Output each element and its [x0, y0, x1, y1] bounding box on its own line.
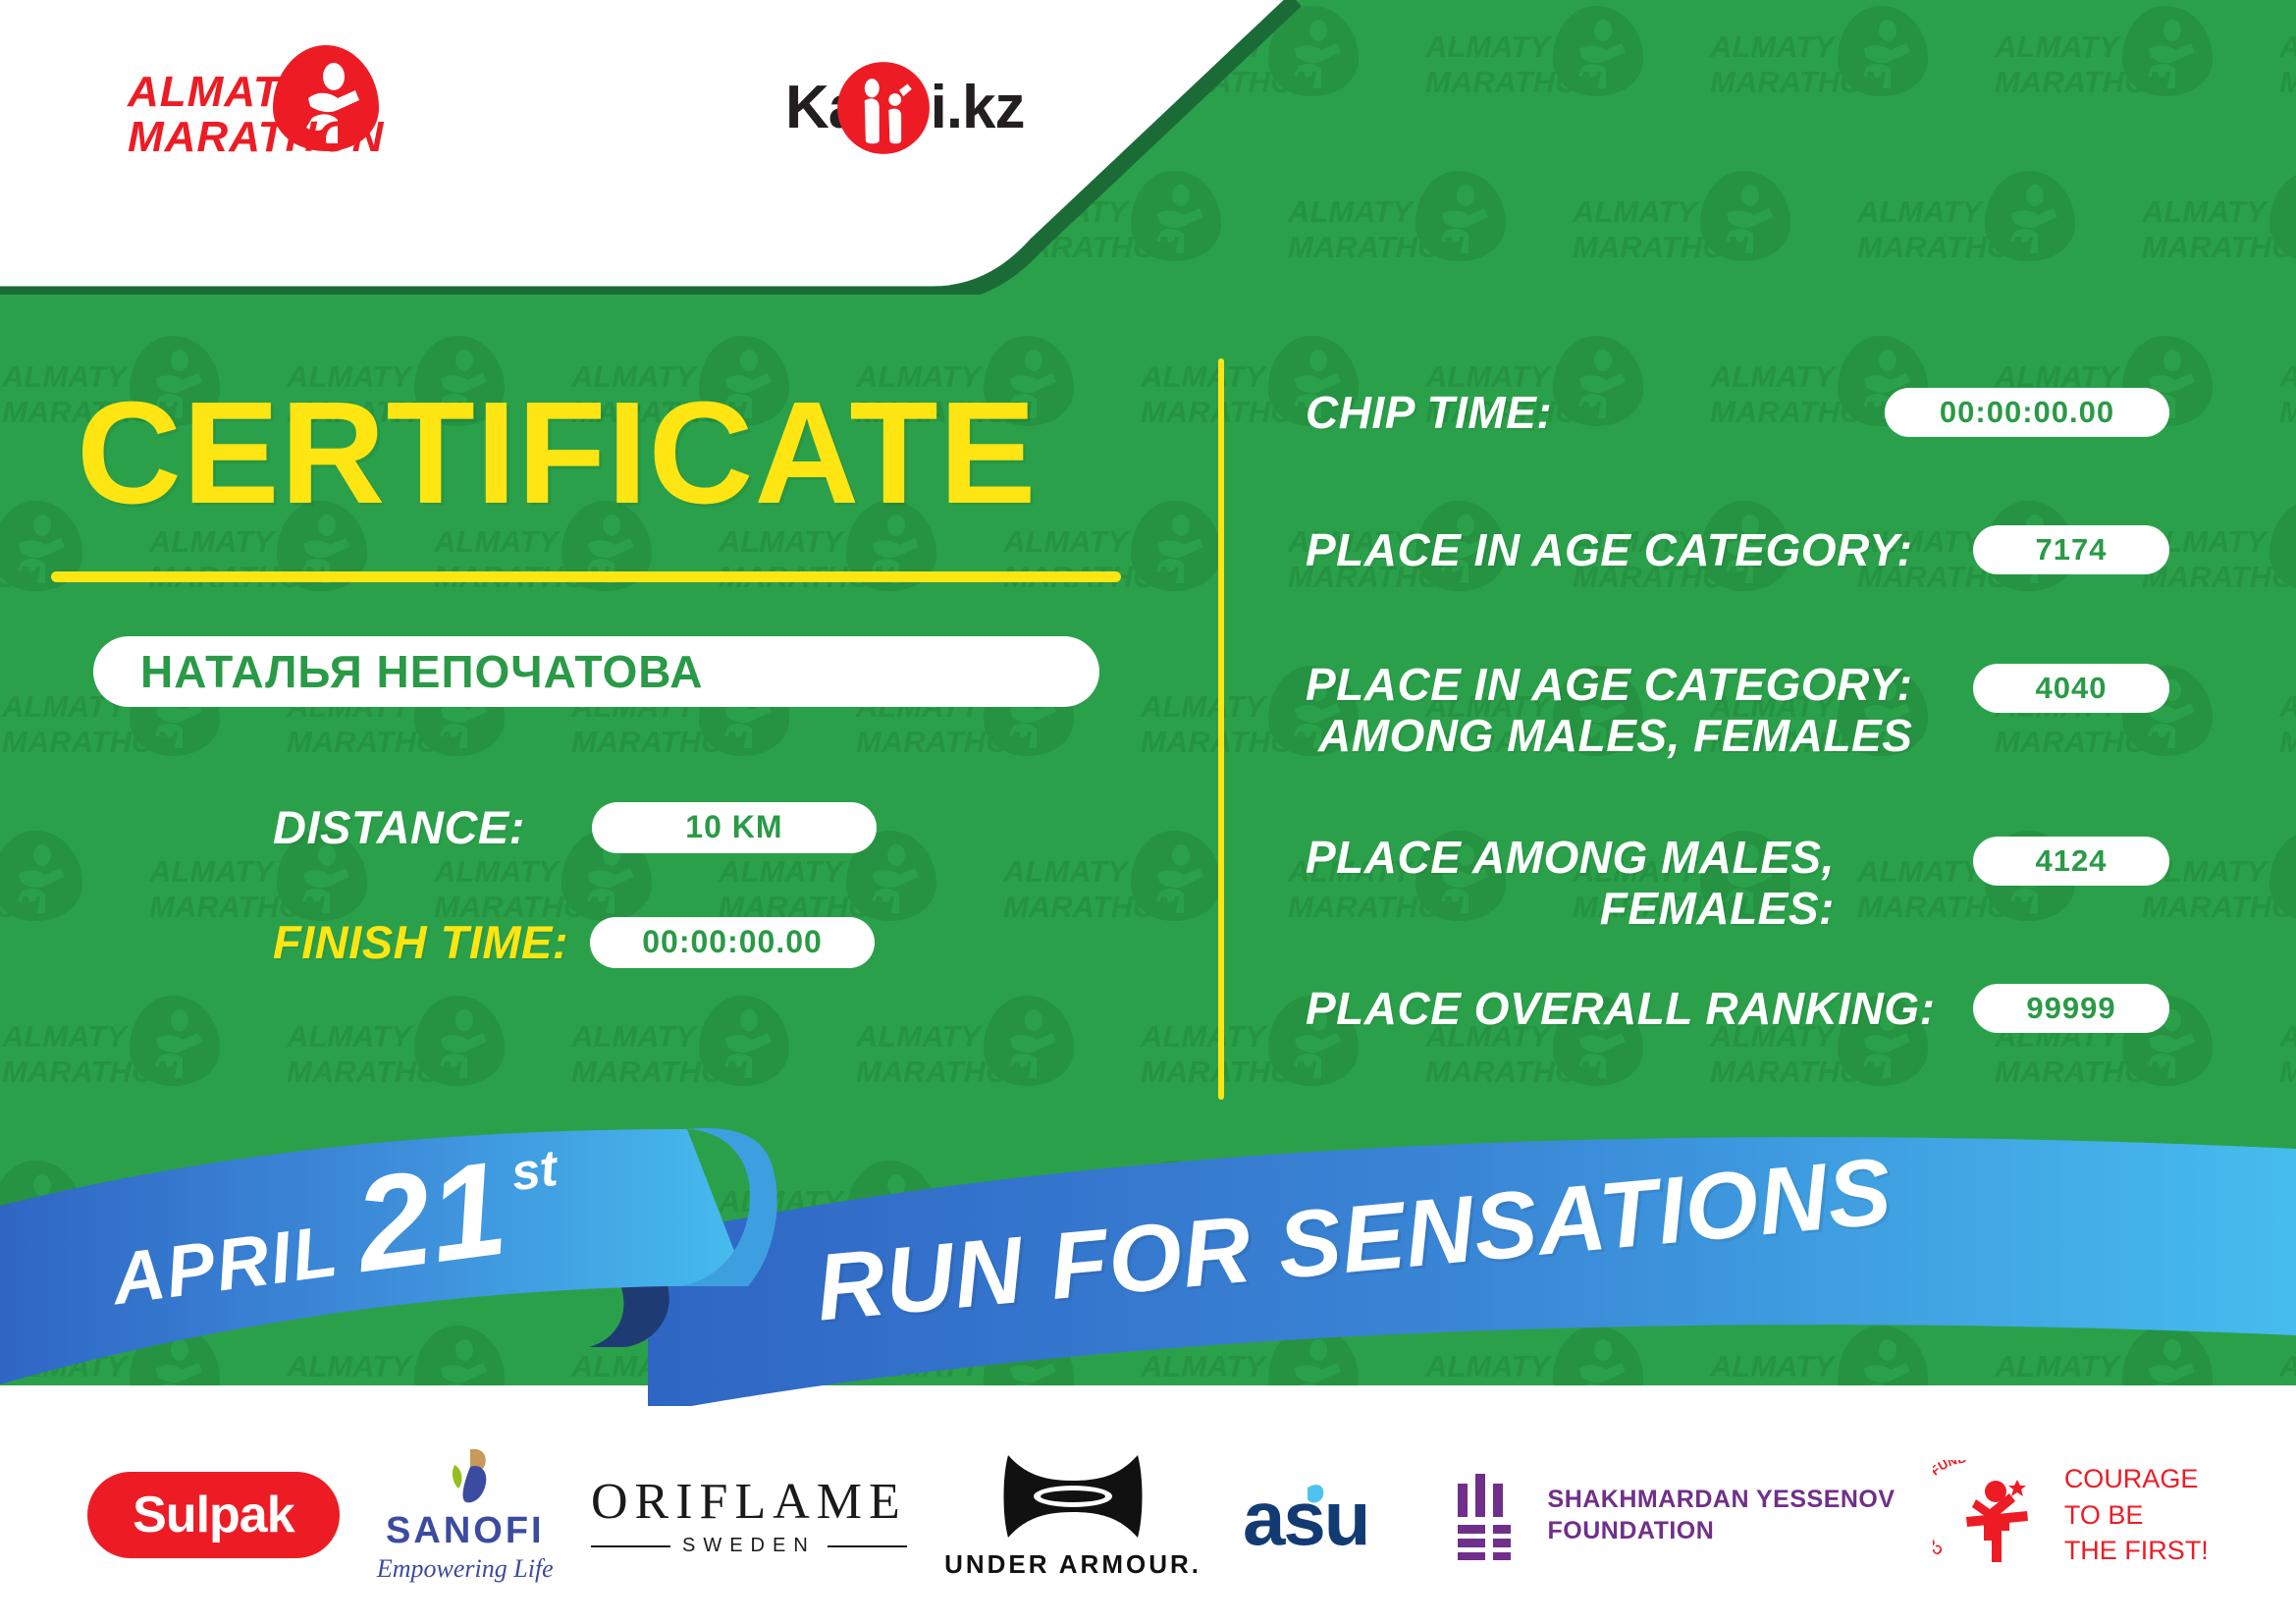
title-underline — [51, 571, 1121, 582]
athlete-name-field: НАТАЛЬЯ НЕПОЧАТОВА — [93, 636, 1099, 707]
stat-label: PLACE IN AGE CATEGORY: — [1306, 525, 1912, 576]
athlete-name-value: НАТАЛЬЯ НЕПОЧАТОВА — [140, 645, 703, 698]
stat-value: 4040 — [1973, 664, 2169, 713]
sponsor-asu: asu — [1239, 1468, 1415, 1562]
stat-value: 7174 — [1973, 525, 2169, 574]
event-ribbon: APRIL 21 st RUN FOR SENSATIONS — [0, 1090, 2296, 1414]
event-day: 21 — [348, 1141, 513, 1293]
svg-text:MARATHON: MARATHON — [1995, 1055, 2170, 1089]
svg-text:ALMATY: ALMATY — [286, 1019, 414, 1054]
svg-text:ALMATY: ALMATY — [1, 1019, 130, 1054]
watermark-logo-icon: ALMATYMARATHON — [1855, 165, 2101, 287]
sponsor-under-armour: UNDER ARMOUR. — [944, 1451, 1201, 1580]
sponsor-courage-to-be-the-first: CORPORATE FUND COURAGE TO BE THE FIRST! — [1933, 1460, 2209, 1570]
svg-text:MARATHON: MARATHON — [1425, 1055, 1601, 1089]
sponsor-sulpak: Sulpak — [87, 1472, 340, 1558]
svg-text:MARATHON: MARATHON — [2142, 230, 2296, 264]
svg-text:ALMATY: ALMATY — [127, 68, 313, 116]
sponsor-bar: Sulpak SANOFI Empowering Life ORIFLAME S… — [0, 1406, 2296, 1624]
svg-text:MARATHON: MARATHON — [2279, 1055, 2296, 1089]
stat-row-place-among-males-females: PLACE AMONG MALES, FEMALES: 4124 — [1306, 833, 2169, 935]
shakhmardan-mark-icon — [1454, 1470, 1526, 1560]
sulpak-logo-label: Sulpak — [87, 1472, 340, 1558]
svg-text:CORPORATE FUND: CORPORATE FUND — [1933, 1460, 1967, 1558]
svg-text:MARATHON: MARATHON — [1710, 65, 1886, 99]
finish-time-value: 00:00:00.00 — [590, 917, 875, 968]
svg-text:MARATHON: MARATHON — [0, 560, 40, 594]
shakhmardan-line1: SHAKHMARDAN YESSENOV — [1548, 1484, 1896, 1516]
kaspi-logo: Kaspi.kz — [677, 61, 1090, 155]
kaspi-mark-icon — [677, 64, 766, 152]
svg-text:MARATHON: MARATHON — [571, 725, 747, 759]
watermark-logo-icon: ALMATYMARATHON — [2140, 165, 2296, 287]
svg-text:MARATHON: MARATHON — [2, 725, 178, 759]
svg-text:ALMATY: ALMATY — [433, 854, 561, 889]
rule-right — [828, 1545, 907, 1547]
watermark-logo-icon: ALMATYMARATHON — [1001, 825, 1247, 947]
stat-label-line1: PLACE AMONG MALES, — [1306, 833, 1835, 884]
svg-text:MARATHON: MARATHON — [856, 1055, 1032, 1089]
svg-text:MARATHON: MARATHON — [571, 1055, 747, 1089]
watermark-logo-icon: ALMATYMARATHON — [2277, 660, 2296, 782]
svg-text:MARATHON: MARATHON — [856, 725, 1032, 759]
svg-text:ALMATY: ALMATY — [1002, 854, 1131, 889]
oriflame-subtitle: SWEDEN — [591, 1535, 907, 1557]
shakhmardan-label: SHAKHMARDAN YESSENOV FOUNDATION — [1548, 1484, 1896, 1547]
svg-text:ALMATY: ALMATY — [718, 854, 846, 889]
distance-value: 10 KM — [592, 802, 877, 853]
sponsor-oriflame: ORIFLAME SWEDEN — [591, 1473, 907, 1557]
svg-text:ALMATY: ALMATY — [2278, 1019, 2296, 1054]
sponsor-sanofi: SANOFI Empowering Life — [377, 1447, 554, 1584]
svg-text:MARATHON: MARATHON — [1857, 230, 2033, 264]
svg-text:MARATHON: MARATHON — [1573, 230, 1748, 264]
stat-label-line2: FEMALES: — [1306, 884, 1835, 935]
rule-left — [591, 1545, 670, 1547]
svg-text:ALMATY: ALMATY — [1140, 359, 1268, 394]
sanofi-mark-icon — [431, 1447, 500, 1508]
svg-text:MARATHON: MARATHON — [1141, 1055, 1316, 1089]
svg-text:MARATHON: MARATHON — [2279, 395, 2296, 429]
svg-text:MARATHON: MARATHON — [287, 725, 462, 759]
stat-row-place-age-category: PLACE IN AGE CATEGORY: 7174 — [1306, 525, 2169, 576]
svg-text:MARATHON: MARATHON — [1710, 1055, 1886, 1089]
svg-text:MARATHON: MARATHON — [1141, 725, 1316, 759]
watermark-logo-icon: ALMATYMARATHON — [1001, 495, 1247, 617]
certificate-page: ALMATYMARATHONALMATYMARATHONALMATYMARATH… — [0, 0, 2296, 1624]
courage-line1: COURAGE — [2064, 1461, 2209, 1496]
svg-text:ALMATY: ALMATY — [1424, 29, 1553, 64]
distance-row: DISTANCE: 10 KM — [273, 800, 877, 854]
svg-text:MARATHON: MARATHON — [287, 1055, 462, 1089]
stat-label: PLACE AMONG MALES, FEMALES: — [1306, 833, 1835, 935]
stat-label-line2: AMONG MALES, FEMALES — [1306, 711, 1912, 762]
oriflame-label: ORIFLAME — [591, 1473, 907, 1531]
sanofi-label: SANOFI — [386, 1510, 545, 1552]
almaty-marathon-logo-icon: ALMATY MARATHON — [116, 41, 440, 159]
stat-value: 00:00:00.00 — [1885, 388, 2169, 437]
svg-text:ALMATY: ALMATY — [855, 1019, 984, 1054]
watermark-logo-icon: ALMATYMARATHON — [2277, 330, 2296, 452]
under-armour-mark-icon — [990, 1451, 1155, 1542]
finish-time-row: FINISH TIME: 00:00:00.00 — [273, 915, 875, 969]
stat-row-chip-time: CHIP TIME: 00:00:00.00 — [1306, 388, 2169, 439]
stat-label: CHIP TIME: — [1306, 388, 1552, 439]
watermark-logo-icon: ALMATYMARATHON — [0, 825, 108, 947]
column-divider — [1218, 358, 1224, 1100]
svg-text:MARATHON: MARATHON — [0, 890, 40, 924]
svg-text:ALMATY: ALMATY — [148, 854, 277, 889]
watermark-logo-icon: ALMATYMARATHON — [1423, 0, 1669, 122]
event-day-ordinal: st — [507, 1139, 561, 1204]
stat-value: 99999 — [1973, 984, 2169, 1033]
under-armour-label: UNDER ARMOUR. — [944, 1549, 1201, 1580]
stat-label-line1: PLACE IN AGE CATEGORY: — [1306, 660, 1912, 711]
svg-text:ALMATY: ALMATY — [2278, 359, 2296, 394]
svg-text:MARATHON: MARATHON — [1141, 395, 1316, 429]
shakhmardan-line2: FOUNDATION — [1548, 1515, 1896, 1547]
svg-text:ALMATY: ALMATY — [2141, 194, 2269, 229]
oriflame-country: SWEDEN — [682, 1535, 816, 1557]
watermark-logo-icon: ALMATYMARATHON — [2277, 0, 2296, 122]
svg-text:ALMATY: ALMATY — [1140, 1019, 1268, 1054]
stat-label: PLACE IN AGE CATEGORY: AMONG MALES, FEMA… — [1306, 660, 1912, 762]
svg-text:ALMATY: ALMATY — [570, 1019, 699, 1054]
svg-text:MARATHON: MARATHON — [1995, 65, 2170, 99]
event-month: APRIL — [107, 1209, 344, 1322]
distance-label: DISTANCE: — [273, 800, 525, 854]
svg-text:MARATHON: MARATHON — [2279, 725, 2296, 759]
stat-row-place-age-category-among: PLACE IN AGE CATEGORY: AMONG MALES, FEMA… — [1306, 660, 2169, 762]
header-panel: ALMATY MARATHON Kaspi.kz — [0, 0, 1423, 295]
svg-text:ALMATY: ALMATY — [1994, 29, 2122, 64]
courage-mark-icon: CORPORATE FUND — [1933, 1460, 2049, 1570]
svg-text:ALMATY: ALMATY — [1856, 194, 1985, 229]
page-title: CERTIFICATE — [77, 381, 1037, 526]
svg-text:MARATHON: MARATHON — [2, 1055, 178, 1089]
watermark-logo-icon: ALMATYMARATHON — [1993, 0, 2238, 122]
svg-text:ALMATY: ALMATY — [2278, 689, 2296, 724]
stat-label: PLACE OVERALL RANKING: — [1306, 984, 1935, 1035]
svg-text:MARATHON: MARATHON — [128, 113, 385, 159]
courage-line2: TO BE — [2064, 1497, 2209, 1533]
svg-text:ALMATY: ALMATY — [1572, 194, 1700, 229]
svg-text:MARATHON: MARATHON — [1425, 65, 1601, 99]
courage-line3: THE FIRST! — [2064, 1533, 2209, 1568]
sponsor-shakhmardan-yessenov: SHAKHMARDAN YESSENOV FOUNDATION — [1454, 1470, 1896, 1560]
sanofi-tagline: Empowering Life — [377, 1554, 554, 1584]
svg-text:ALMATY: ALMATY — [1709, 29, 1838, 64]
svg-text:ALMATY: ALMATY — [2278, 29, 2296, 64]
stat-row-place-overall-ranking: PLACE OVERALL RANKING: 99999 — [1306, 984, 2169, 1035]
svg-text:asu: asu — [1243, 1475, 1368, 1561]
finish-time-label: FINISH TIME: — [273, 915, 568, 969]
svg-text:MARATHON: MARATHON — [2279, 65, 2296, 99]
courage-label: COURAGE TO BE THE FIRST! — [2064, 1461, 2209, 1568]
stat-value: 4124 — [1973, 837, 2169, 886]
watermark-logo-icon: ALMATYMARATHON — [1571, 165, 1816, 287]
svg-text:MARATHON: MARATHON — [1003, 890, 1179, 924]
watermark-logo-icon: ALMATYMARATHON — [1708, 0, 1953, 122]
svg-text:ALMATY: ALMATY — [1140, 689, 1268, 724]
